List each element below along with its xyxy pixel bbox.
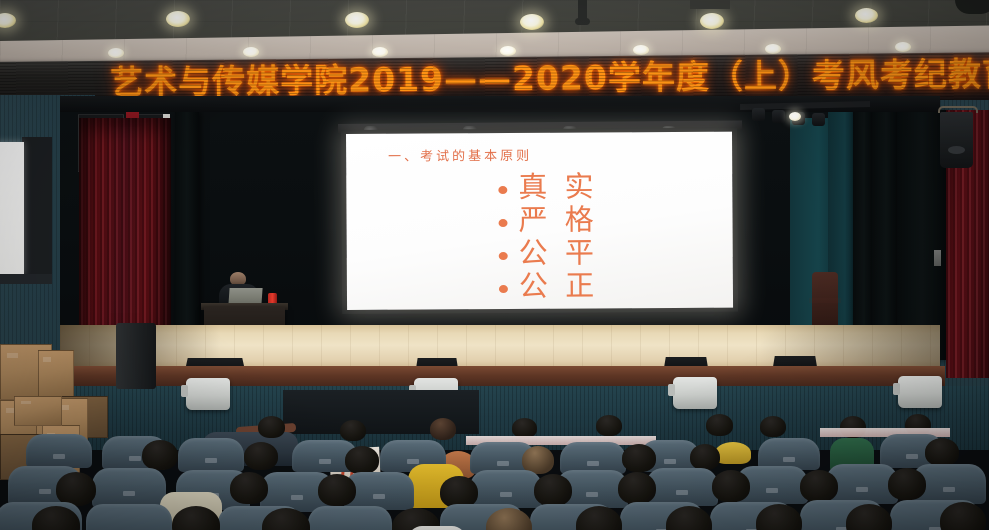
audience-head <box>846 504 892 530</box>
auditorium-seat <box>86 504 172 530</box>
stage-light-fixture <box>752 108 765 121</box>
ceiling-downlight <box>243 47 259 57</box>
side-projection-panel <box>0 142 24 275</box>
front-fill-speaker <box>898 376 942 408</box>
stage-chair <box>812 272 838 328</box>
audience-white-shirt <box>408 526 466 530</box>
audience-head <box>756 504 802 530</box>
audience-head <box>800 470 838 502</box>
auditorium-seat <box>308 506 392 530</box>
audience-head <box>712 470 750 502</box>
ceiling-downlight <box>765 44 781 54</box>
audience-head <box>340 420 366 441</box>
audience-head <box>622 444 656 472</box>
auditorium-seat <box>92 468 166 508</box>
front-fill-speaker <box>673 377 717 409</box>
stage-light-fixture <box>772 110 785 123</box>
audience-head <box>706 414 733 436</box>
auditorium-photo: 艺术与传媒学院2019——2020学年度（上）考风考纪教育 一、考试的基本原则 … <box>0 0 989 530</box>
stage-curtain-leg <box>175 112 199 342</box>
stage-spot-glow <box>789 112 801 121</box>
audience-head <box>618 472 656 504</box>
cardboard-box <box>38 350 74 398</box>
stage-apron-edge <box>45 366 945 388</box>
auditorium-seat <box>178 438 244 472</box>
ceiling-downlight <box>108 48 124 58</box>
floor-speaker-cabinet <box>116 323 156 389</box>
slide-bullet-item: 公 平 <box>499 236 598 270</box>
audience-head <box>345 446 379 474</box>
ceiling-downlight <box>700 13 724 29</box>
ceiling-sign <box>690 0 730 9</box>
audience-head <box>888 468 926 500</box>
audience-head <box>244 442 278 470</box>
audience-head <box>258 416 285 438</box>
ceiling-downlight <box>895 42 911 52</box>
stage-light-fixture <box>812 113 825 126</box>
audience-head <box>230 472 268 504</box>
auditorium-seat <box>26 434 92 468</box>
side-screen-frame <box>22 137 52 282</box>
audience-head <box>430 418 456 440</box>
side-panel-shelf <box>0 274 52 284</box>
audience-head <box>534 474 572 506</box>
audience-head <box>690 444 720 470</box>
audience-area <box>0 414 989 530</box>
stage-curtain-leg <box>872 110 900 352</box>
auditorium-seat <box>646 468 718 506</box>
ceiling-downlight <box>166 11 190 27</box>
audience-head <box>318 474 356 506</box>
ceiling-downlight <box>520 14 544 30</box>
hanging-loudspeaker <box>940 112 973 168</box>
slide-bullet-item: 公 正 <box>499 269 598 303</box>
audience-head <box>596 415 622 436</box>
slide-bullet-list: 真 实 严 格 公 平 公 正 <box>498 170 598 303</box>
slide-title: 一、考试的基本原则 <box>388 145 532 165</box>
ceiling-downlight <box>500 46 516 56</box>
audience-head <box>56 472 96 506</box>
auditorium-seat <box>470 470 542 508</box>
ceiling-downlight <box>633 45 649 55</box>
audience-yellow-cap <box>715 442 751 464</box>
slide-bullet-item: 真 实 <box>498 170 597 204</box>
ceiling-downlight <box>855 8 878 23</box>
ceiling-downlight <box>372 47 388 57</box>
ceiling-downlight <box>345 12 369 28</box>
audience-head <box>940 502 986 530</box>
audience-head <box>142 440 178 470</box>
projection-screen: 一、考试的基本原则 真 实 严 格 公 平 公 正 <box>346 132 733 310</box>
audience-head <box>925 438 959 466</box>
front-fill-speaker <box>186 378 230 410</box>
ceiling-fixture <box>575 18 590 25</box>
audience-head <box>512 418 537 438</box>
wall-switch-plate <box>934 250 941 266</box>
audience-head <box>760 416 786 437</box>
slide-bullet-item: 严 格 <box>498 203 597 237</box>
ceiling-projector-mount <box>578 0 587 20</box>
